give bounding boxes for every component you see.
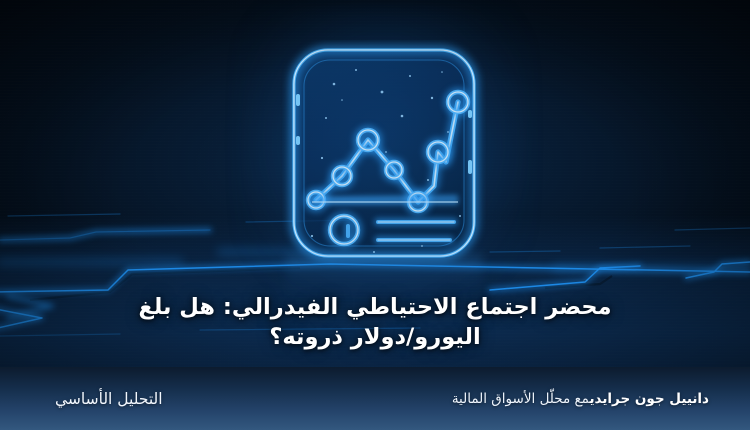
promo-banner: محضر اجتماع الاحتياطي الفيدرالي: هل بلغ …: [0, 0, 750, 430]
author-name: دانييل جون جرايدي: [589, 391, 709, 407]
headline-line-2: اليورو/دولار ذروته؟: [40, 322, 710, 352]
author-byline: دانييل جون جرايديمع محلّل الأسواق المالي…: [452, 391, 714, 407]
headline-block: محضر اجتماع الاحتياطي الفيدرالي: هل بلغ …: [0, 292, 750, 352]
footer-bar: دانييل جون جرايديمع محلّل الأسواق المالي…: [0, 367, 750, 430]
headline-line-1: محضر اجتماع الاحتياطي الفيدرالي: هل بلغ: [40, 292, 710, 322]
category-label: التحليل الأساسي: [55, 390, 163, 408]
analytics-dashboard-card-icon: [282, 40, 486, 270]
byline-prefix: مع محلّل الأسواق المالية: [452, 391, 590, 407]
